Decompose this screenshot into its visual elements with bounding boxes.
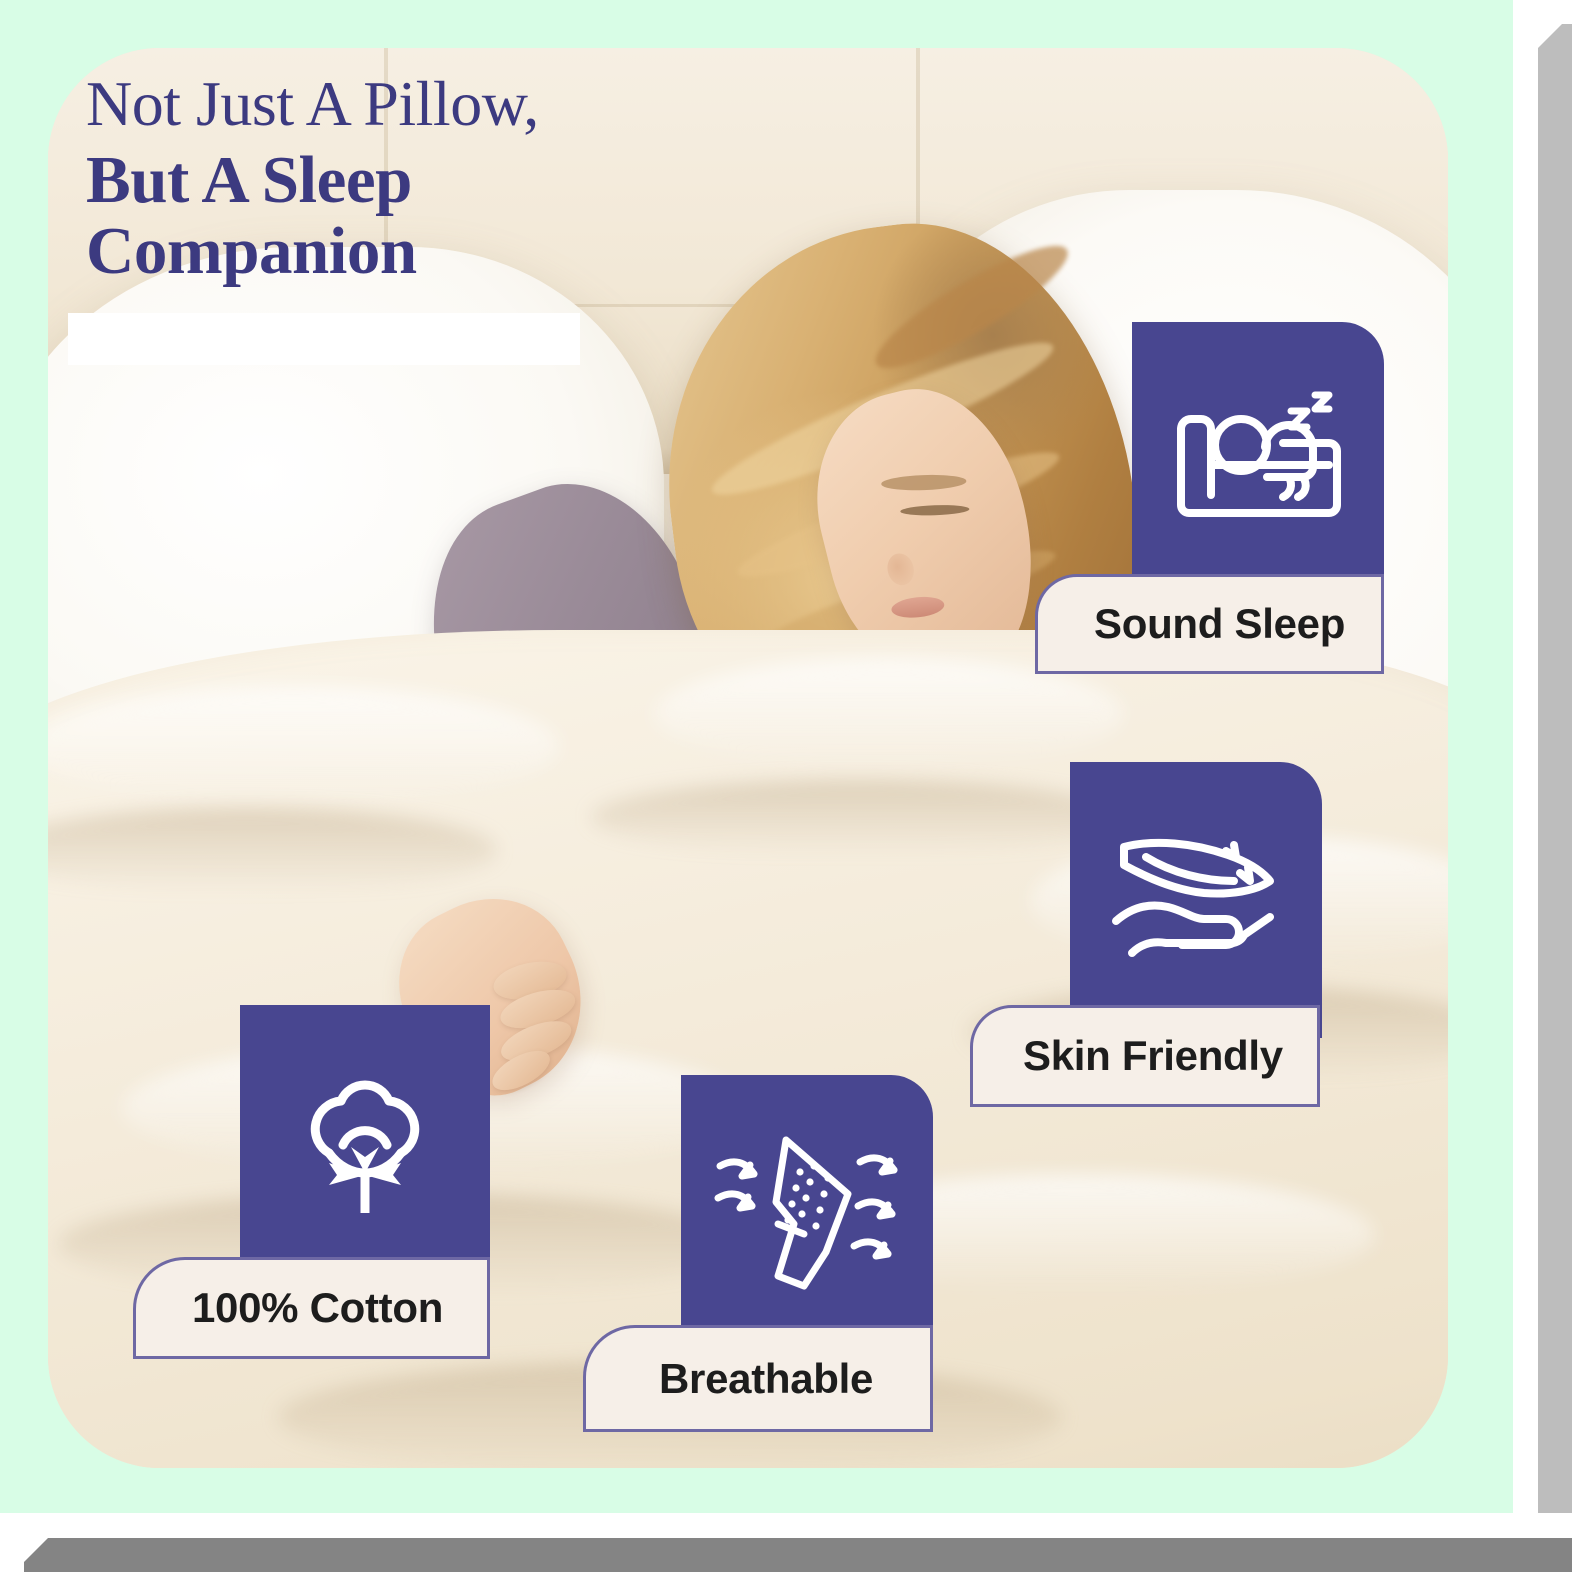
feather-on-hand-icon <box>1102 825 1290 975</box>
lips <box>890 594 945 620</box>
eyebrow <box>881 474 967 492</box>
perforated-fabric-airflow-icon <box>714 1128 900 1296</box>
skin-friendly-icon-box <box>1070 762 1322 1038</box>
headline-line-2: But A Sleep <box>86 147 726 213</box>
headline-line-1: Not Just A Pillow, <box>86 72 726 135</box>
sound-sleep-icon-box <box>1132 322 1384 598</box>
closed-eye <box>900 504 969 516</box>
sound-sleep-label: Sound Sleep <box>1094 600 1345 648</box>
breathable-label: Breathable <box>659 1355 873 1403</box>
headline-line-3: Companion <box>86 218 726 284</box>
headline-highlight-bar <box>68 313 580 365</box>
scrollbar-right[interactable] <box>1538 24 1572 1513</box>
breathable-label-box[interactable]: Breathable <box>583 1325 933 1432</box>
breathable-icon-box <box>681 1075 933 1348</box>
skin-friendly-label-box[interactable]: Skin Friendly <box>970 1005 1320 1107</box>
headline-block: Not Just A Pillow, But A Sleep Companion <box>86 72 726 284</box>
sound-sleep-label-box[interactable]: Sound Sleep <box>1035 574 1384 674</box>
nose <box>884 551 917 588</box>
person-sleeping-in-bed-zzz-icon <box>1165 385 1351 535</box>
cotton-boll-icon <box>285 1049 445 1213</box>
product-graphic-canvas: Not Just A Pillow, But A Sleep Companion <box>0 0 1572 1572</box>
scrollbar-bottom[interactable] <box>24 1538 1572 1572</box>
cotton-label: 100% Cotton <box>192 1284 443 1332</box>
skin-friendly-label: Skin Friendly <box>1023 1032 1283 1080</box>
cotton-icon-box <box>240 1005 490 1257</box>
cotton-label-box[interactable]: 100% Cotton <box>133 1257 490 1359</box>
